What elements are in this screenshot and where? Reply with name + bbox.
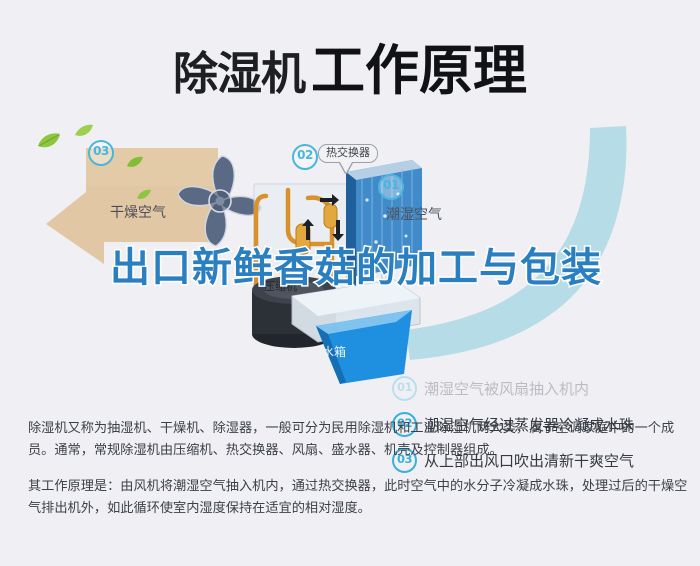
page-root: 除湿机工作原理 bbox=[0, 0, 700, 566]
dehumidifier-illustration: 热交换器 03 02 01 干燥空气 潮湿空气 压缩机 水箱 01 潮湿空气被风… bbox=[0, 118, 700, 408]
title-part-one: 除湿机 bbox=[173, 47, 305, 100]
leaf-icon bbox=[36, 132, 62, 155]
label-compressor: 压缩机 bbox=[264, 278, 297, 294]
label-dry-air: 干燥空气 bbox=[110, 202, 166, 222]
label-water-tank: 水箱 bbox=[322, 343, 346, 360]
step-number-01: 01 bbox=[392, 376, 417, 401]
title-part-two: 工作原理 bbox=[311, 39, 527, 102]
body-copy: 除湿机又称为抽湿机、干燥机、除湿器，一般可分为民用除湿机和工业除湿机两大类，属于… bbox=[28, 418, 688, 520]
step-item-01: 01 潮湿空气被风扇抽入机内 bbox=[392, 370, 692, 406]
page-title: 除湿机工作原理 bbox=[0, 26, 700, 105]
leaf-icon bbox=[126, 156, 144, 174]
body-paragraph-2: 其工作原理是：由风机将潮湿空气抽入机内，通过热交换器，此时空气中的水分子冷凝成水… bbox=[28, 476, 688, 520]
callout-tail-icon bbox=[340, 162, 352, 173]
diagram-badge-02: 02 bbox=[292, 144, 318, 170]
diagram-badge-01: 01 bbox=[378, 174, 404, 200]
leaf-icon bbox=[74, 124, 94, 143]
callout-heat-exchanger: 热交换器 bbox=[318, 144, 378, 163]
step-text-01: 潮湿空气被风扇抽入机内 bbox=[424, 378, 589, 399]
label-humid-air: 潮湿空气 bbox=[386, 204, 442, 224]
diagram-badge-03: 03 bbox=[88, 140, 114, 166]
body-paragraph-1: 除湿机又称为抽湿机、干燥机、除湿器，一般可分为民用除湿机和工业除湿机两大类，属于… bbox=[28, 418, 688, 462]
